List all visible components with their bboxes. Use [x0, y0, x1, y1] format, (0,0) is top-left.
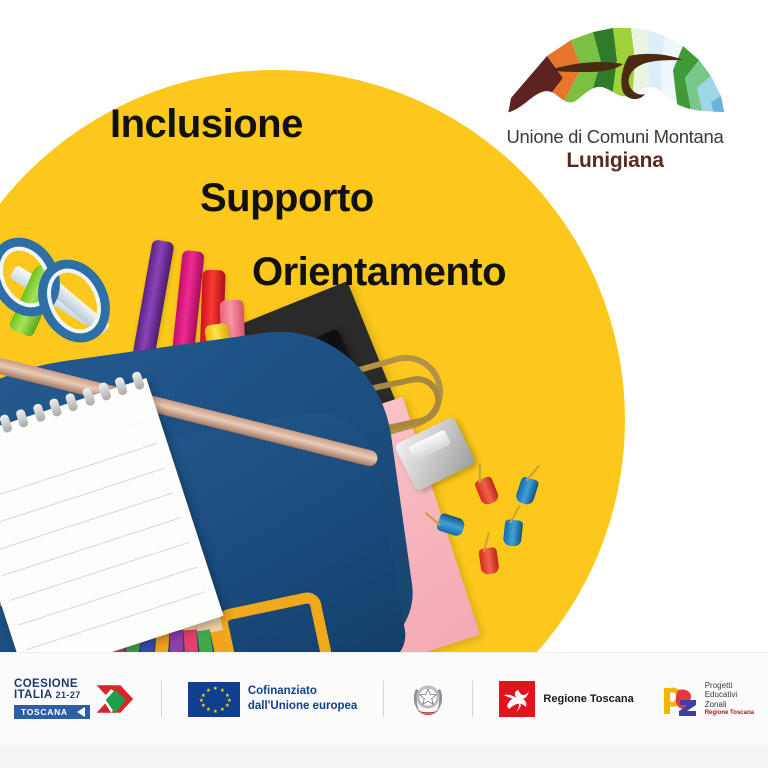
eu-flag-icon: ★ ★ ★ ★ ★ ★ ★ ★ ★ ★ ★ ★	[188, 682, 240, 717]
eu-line-1: Cofinanziato	[248, 684, 357, 699]
repubblica-italiana-logo	[410, 679, 446, 719]
footer-divider-3	[472, 681, 473, 717]
pez-line-3: Zonali	[705, 700, 754, 709]
coesione-italia-logo: COESIONE ITALIA 21-27 TOSCANA	[14, 678, 135, 720]
headline-line-3: Orientamento	[252, 252, 600, 292]
pez-text-block: Progetti Educativi Zonali Regione Toscan…	[705, 681, 754, 717]
footer-bottom-band	[0, 745, 768, 768]
coesione-years: 21-27	[56, 691, 81, 700]
unione-comuni-montana-lunigiana-logo: Unione di Comuni Montana Lunigiana	[484, 26, 746, 173]
poster: Inclusione Supporto Orientamento	[0, 0, 768, 768]
coesione-italia-word: ITALIA	[14, 690, 53, 702]
repubblica-italiana-emblem-icon	[410, 679, 446, 719]
eu-cofinancing-logo: ★ ★ ★ ★ ★ ★ ★ ★ ★ ★ ★ ★ Cofinanziato dal…	[188, 682, 357, 717]
footer-logo-bar: COESIONE ITALIA 21-27 TOSCANA	[0, 652, 768, 768]
pez-mark-icon	[660, 680, 700, 718]
coesione-line-2: ITALIA 21-27	[14, 690, 90, 702]
pez-line-1: Progetti	[705, 681, 754, 690]
eu-text-block: Cofinanziato dall'Unione europea	[248, 684, 357, 714]
coesione-region-badge: TOSCANA	[14, 705, 90, 720]
lunigiana-fan-icon	[497, 26, 733, 122]
coesione-text-block: COESIONE ITALIA 21-27 TOSCANA	[14, 679, 90, 720]
pez-line-4: Regione Toscana	[705, 710, 754, 717]
regione-toscana-pegasus-icon	[499, 681, 535, 717]
pez-line-2: Educativi	[705, 690, 754, 699]
eu-line-2: dall'Unione europea	[248, 699, 357, 714]
footer-divider-2	[383, 681, 384, 717]
regione-toscana-logo: Regione Toscana	[499, 681, 633, 717]
footer-divider-1	[161, 681, 162, 717]
headline-line-2: Supporto	[200, 178, 600, 218]
logo-org-name: Unione di Comuni Montana	[484, 126, 746, 147]
footer-logos-row: COESIONE ITALIA 21-27 TOSCANA	[0, 653, 768, 745]
coesione-arrows-icon	[93, 678, 135, 720]
pez-logo: Progetti Educativi Zonali Regione Toscan…	[660, 680, 754, 718]
regione-toscana-label: Regione Toscana	[543, 693, 633, 705]
logo-org-subtitle: Lunigiana	[484, 148, 746, 173]
